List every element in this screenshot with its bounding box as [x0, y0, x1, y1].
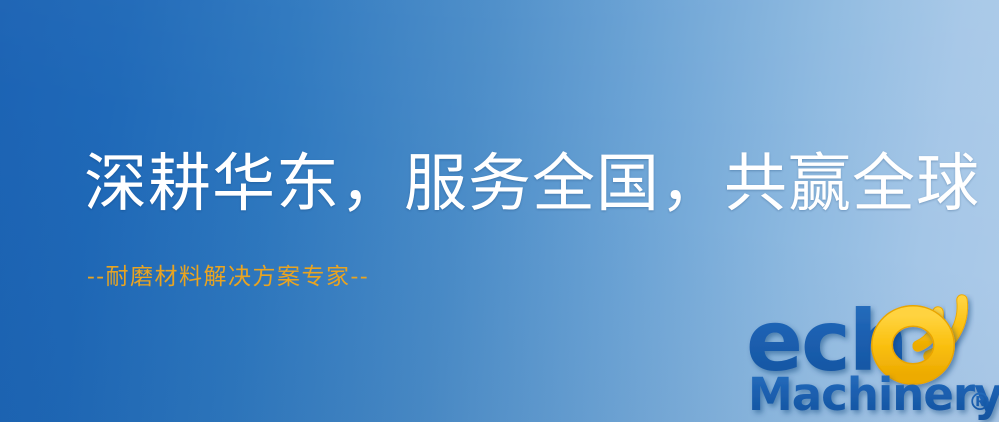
logo-tagline: Machinery ® [748, 368, 999, 421]
banner-subtitle: --耐磨材料解决方案专家-- [87, 266, 369, 289]
echo-machinery-logo[interactable]: ech Machinery ® [746, 294, 999, 422]
logo-machinery-text: Machinery [748, 368, 999, 421]
promo-banner: 深耕华东，服务全国，共赢全球 --耐磨材料解决方案专家-- [0, 0, 999, 422]
logo-artwork: ech Machinery ® [746, 294, 999, 422]
banner-headline: 深耕华东，服务全国，共赢全球 [84, 152, 980, 215]
logo-registered-mark: ® [968, 388, 992, 416]
